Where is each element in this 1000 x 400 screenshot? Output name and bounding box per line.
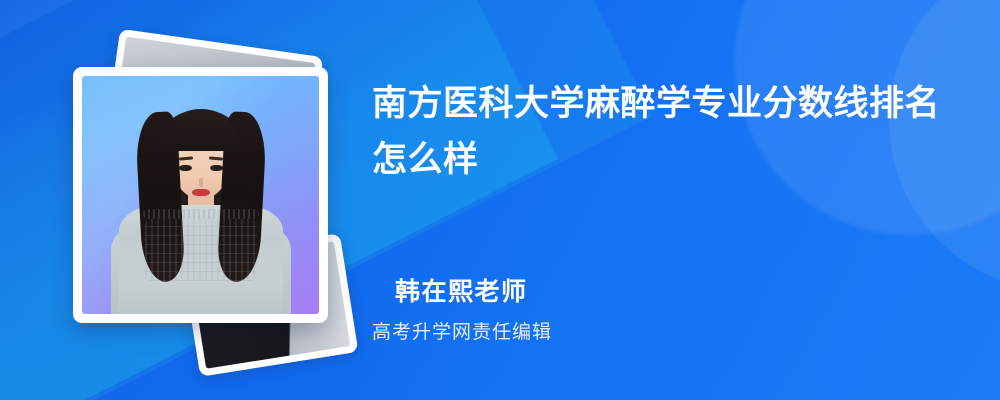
author-role: 高考升学网责任编辑 (372, 317, 552, 344)
author-photo-card (73, 67, 328, 323)
blouse-ruche-texture (145, 219, 257, 281)
blouse-neckline-texture (143, 209, 259, 219)
eye-left-icon (179, 165, 192, 171)
portrait-figure (82, 76, 319, 314)
author-portrait-photo (82, 76, 319, 314)
article-banner: 南方医科大学麻醉学专业分数线排名怎么样 韩在熙老师 高考升学网责任编辑 (0, 0, 1000, 400)
nose-icon (199, 178, 203, 187)
lips-icon (192, 189, 210, 196)
banner-text-column: 南方医科大学麻醉学专业分数线排名怎么样 韩在熙老师 高考升学网责任编辑 (372, 0, 972, 400)
eye-right-icon (210, 165, 223, 171)
photo-card-stack (50, 40, 350, 350)
article-title: 南方医科大学麻醉学专业分数线排名怎么样 (372, 76, 952, 188)
author-name: 韩在熙老师 (395, 272, 528, 308)
